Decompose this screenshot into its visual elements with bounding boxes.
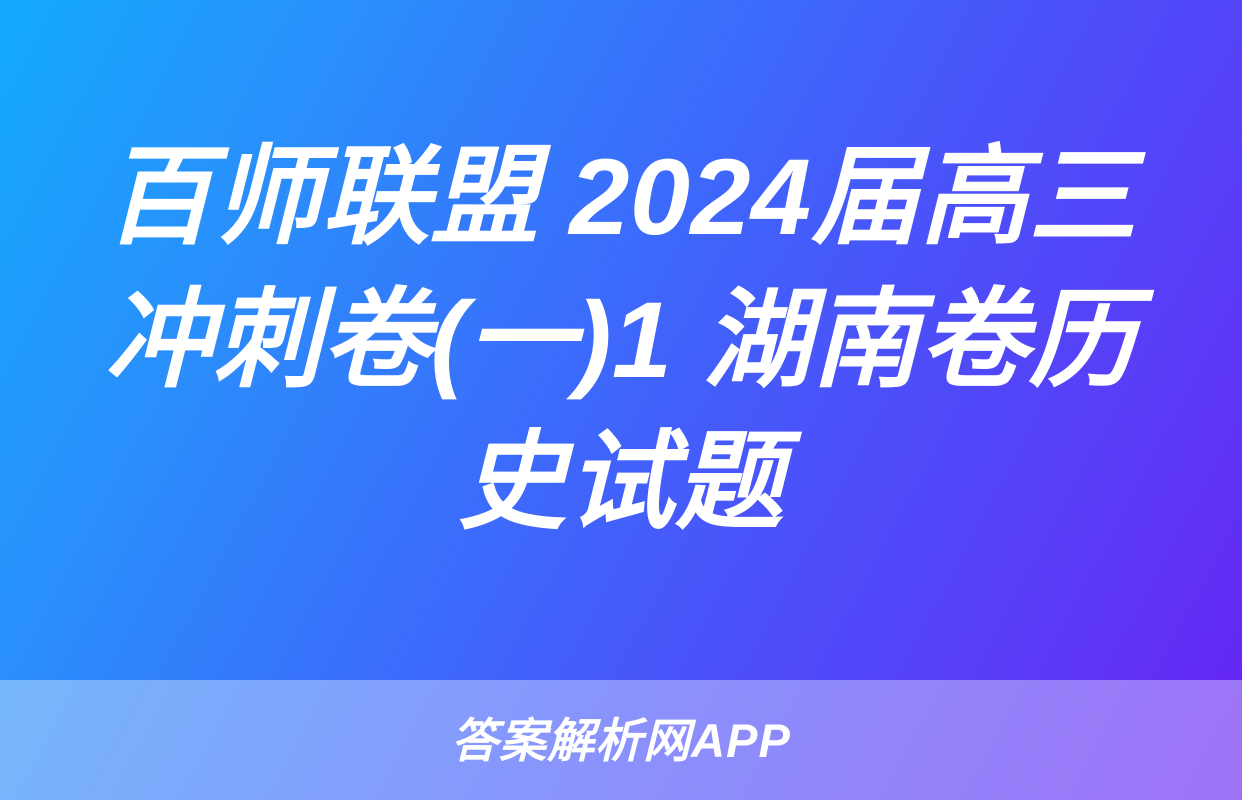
watermark-band: 答案解析网APP [0, 680, 1242, 800]
exam-cover-card: 百师联盟 2024届高三冲刺卷(一)1 湖南卷历史试题 答案解析网APP [0, 0, 1242, 800]
title-container: 百师联盟 2024届高三冲刺卷(一)1 湖南卷历史试题 [0, 0, 1242, 680]
watermark-app-label: 答案解析网APP [451, 717, 791, 764]
page-title: 百师联盟 2024届高三冲刺卷(一)1 湖南卷历史试题 [74, 126, 1168, 554]
